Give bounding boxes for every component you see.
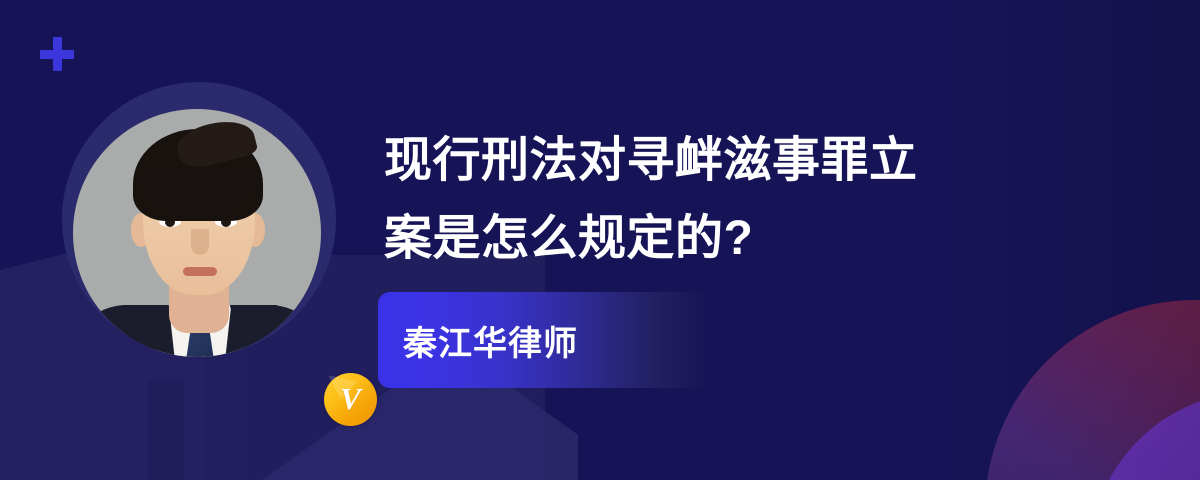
decor-polygon-stem — [148, 380, 184, 480]
decor-circle-purple — [1090, 392, 1200, 480]
lawyer-name-badge[interactable]: 秦江华律师 — [378, 292, 710, 388]
headline-block: 现行刑法对寻衅滋事罪立 案是怎么规定的? — [384, 122, 1084, 278]
portrait-collar-left — [123, 305, 175, 357]
portrait-collar-right — [225, 305, 277, 357]
lawyer-question-banner: V 现行刑法对寻衅滋事罪立 案是怎么规定的? 秦江华律师 — [0, 0, 1200, 480]
lawyer-name-label: 秦江华律师 — [403, 316, 578, 365]
portrait-mouth — [183, 267, 217, 276]
portrait-nose — [191, 229, 209, 255]
avatar[interactable]: V — [62, 82, 336, 356]
avatar-portrait — [73, 109, 321, 357]
verified-badge-letter: V — [340, 383, 361, 414]
page-title: 现行刑法对寻衅滋事罪立 案是怎么规定的? — [384, 122, 1084, 278]
plus-icon-bar-vertical — [53, 37, 62, 71]
plus-icon — [40, 37, 74, 71]
verified-badge-icon: V — [324, 373, 377, 426]
decor-circle-crimson — [985, 300, 1200, 480]
